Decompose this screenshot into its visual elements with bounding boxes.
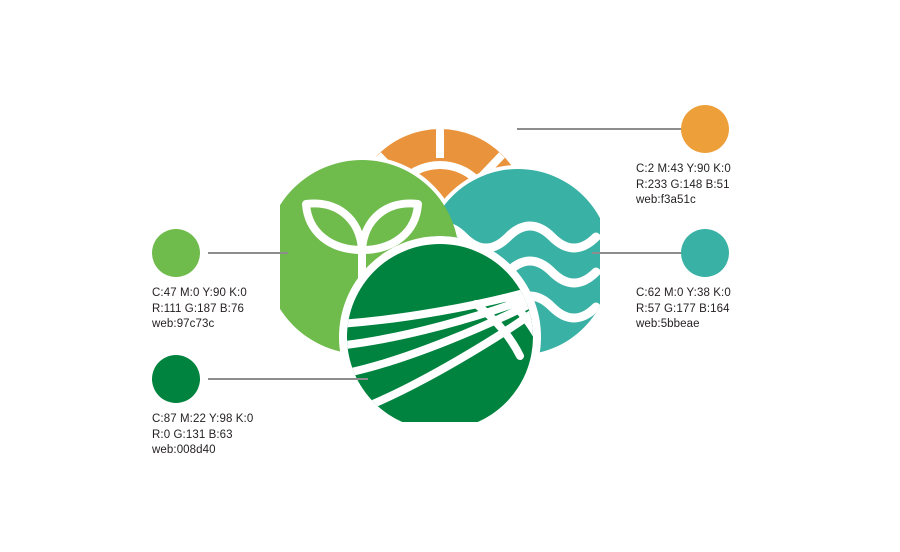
swatch-rgb-teal: R:57 G:177 B:164 bbox=[636, 302, 731, 318]
swatch-dot-light-green[interactable] bbox=[152, 229, 200, 277]
swatch-cmyk-light-green: C:47 M:0 Y:90 K:0 bbox=[152, 286, 247, 302]
swatch-rgb-light-green: R:111 G:187 B:76 bbox=[152, 302, 247, 318]
swatch-cmyk-teal: C:62 M:0 Y:38 K:0 bbox=[636, 286, 731, 302]
swatch-cmyk-orange: C:2 M:43 Y:90 K:0 bbox=[636, 162, 731, 178]
swatch-web-orange: web:f3a51c bbox=[636, 193, 731, 209]
swatch-web-light-green: web:97c73c bbox=[152, 317, 247, 333]
swatch-cmyk-dark-green: C:87 M:22 Y:98 K:0 bbox=[152, 412, 253, 428]
swatch-dot-dark-green[interactable] bbox=[152, 355, 200, 403]
connector-line-teal bbox=[592, 252, 683, 254]
connector-line-dark-green bbox=[208, 378, 368, 380]
swatch-dot-orange[interactable] bbox=[681, 105, 729, 153]
connector-line-light-green bbox=[208, 252, 288, 254]
logo-svg bbox=[280, 92, 600, 422]
color-palette-page: C:2 M:43 Y:90 K:0 R:233 G:148 B:51 web:f… bbox=[0, 0, 900, 552]
connector-line-orange bbox=[517, 128, 683, 130]
swatch-values-dark-green: C:87 M:22 Y:98 K:0 R:0 G:131 B:63 web:00… bbox=[152, 412, 253, 459]
swatch-dot-teal[interactable] bbox=[681, 229, 729, 277]
swatch-values-orange: C:2 M:43 Y:90 K:0 R:233 G:148 B:51 web:f… bbox=[636, 162, 731, 209]
swatch-web-dark-green: web:008d40 bbox=[152, 443, 253, 459]
swatch-rgb-dark-green: R:0 G:131 B:63 bbox=[152, 428, 253, 444]
logo-mark bbox=[280, 92, 600, 422]
swatch-values-light-green: C:47 M:0 Y:90 K:0 R:111 G:187 B:76 web:9… bbox=[152, 286, 247, 333]
swatch-rgb-orange: R:233 G:148 B:51 bbox=[636, 178, 731, 194]
swatch-values-teal: C:62 M:0 Y:38 K:0 R:57 G:177 B:164 web:5… bbox=[636, 286, 731, 333]
swatch-web-teal: web:5bbeae bbox=[636, 317, 731, 333]
